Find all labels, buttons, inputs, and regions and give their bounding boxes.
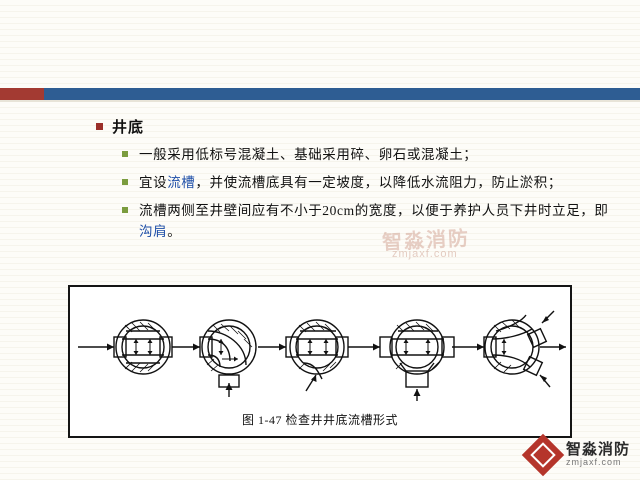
logo-inner-square — [530, 442, 555, 467]
diamond-logo-icon — [522, 434, 564, 476]
bullet-item-2: 宜设流槽，并使流槽底具有一定坡度，以降低水流阻力，防止淤积； — [122, 172, 609, 193]
bullet-text-3-highlight: 沟肩 — [139, 224, 167, 239]
square-bullet-icon — [96, 123, 103, 130]
bullet-item-3: 流槽两侧至井壁间应有不小于20cm的宽度，以便于养护人员下井时立足，即沟肩。 — [122, 200, 609, 242]
slide-canvas: 井底 一般采用低标号混凝土、基础采用碎、卵石或混凝土； 宜设流槽，并使流槽底具有… — [0, 0, 640, 480]
accent-bar-red — [0, 88, 44, 100]
brand-logo: 智淼消防 zmjaxf.com — [528, 438, 630, 472]
bullet-text-2-pre: 宜设 — [139, 175, 167, 190]
slide-content: 井底 一般采用低标号混凝土、基础采用碎、卵石或混凝土； 宜设流槽，并使流槽底具有… — [0, 108, 640, 242]
figure-caption: 图 1-47 检查井井底流槽形式 — [70, 411, 570, 428]
bullet-text-2-highlight: 流槽 — [167, 175, 195, 190]
logo-subtitle: zmjaxf.com — [566, 458, 630, 468]
bullet-text-2-post: ，并使流槽底具有一定坡度，以降低水流阻力，防止淤积； — [195, 175, 562, 190]
heading-text: 井底 — [112, 120, 144, 136]
logo-title: 智淼消防 — [566, 442, 630, 459]
bullet-text-3-post: 。 — [167, 224, 181, 239]
watermark-body-subtext: zmjaxf.com — [392, 248, 458, 260]
bullet-text-3-pre: 流槽两侧至井壁间应有不小于20cm的宽度，以便于养护人员下井时立足，即 — [139, 203, 609, 218]
bullet-text-1: 一般采用低标号混凝土、基础采用碎、卵石或混凝土； — [139, 147, 477, 162]
square-bullet-icon — [122, 207, 128, 213]
bullet-item-1: 一般采用低标号混凝土、基础采用碎、卵石或混凝土； — [122, 144, 609, 165]
figure-panel: 图 1-47 检查井井底流槽形式 — [68, 285, 572, 438]
logo-text-block: 智淼消防 zmjaxf.com — [566, 442, 630, 468]
square-bullet-icon — [122, 179, 128, 185]
accent-bar-blue — [44, 88, 640, 100]
bullet-level1-title: 井底 — [96, 116, 640, 137]
accent-bar-thin — [0, 100, 640, 102]
square-bullet-icon — [122, 151, 128, 157]
